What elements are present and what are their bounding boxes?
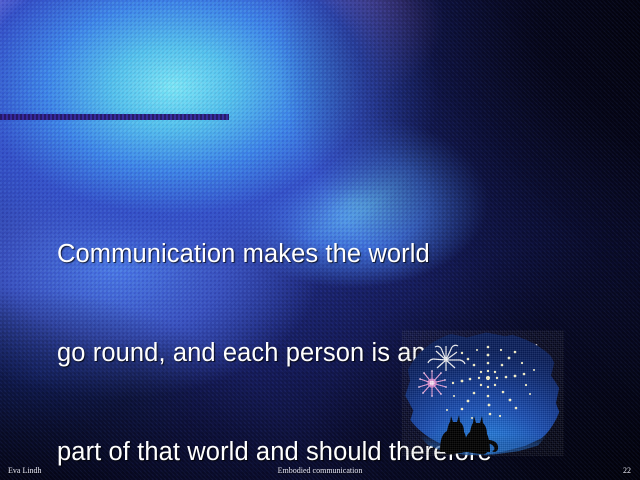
- firework-pink: [418, 370, 447, 397]
- cat-silhouettes: [440, 415, 498, 455]
- footer-title: Embodied communication: [0, 466, 640, 475]
- horizontal-rule: [0, 114, 229, 120]
- body-line-1: Communication makes the world: [57, 238, 617, 271]
- presentation-slide: Communication makes the world go round, …: [0, 0, 640, 480]
- firework-cream-large: [446, 346, 535, 419]
- fireworks-and-cats-svg: [402, 330, 564, 456]
- footer-page-number: 22: [623, 466, 631, 475]
- fireworks-illustration: [402, 330, 564, 456]
- firework-white-small: [428, 345, 465, 371]
